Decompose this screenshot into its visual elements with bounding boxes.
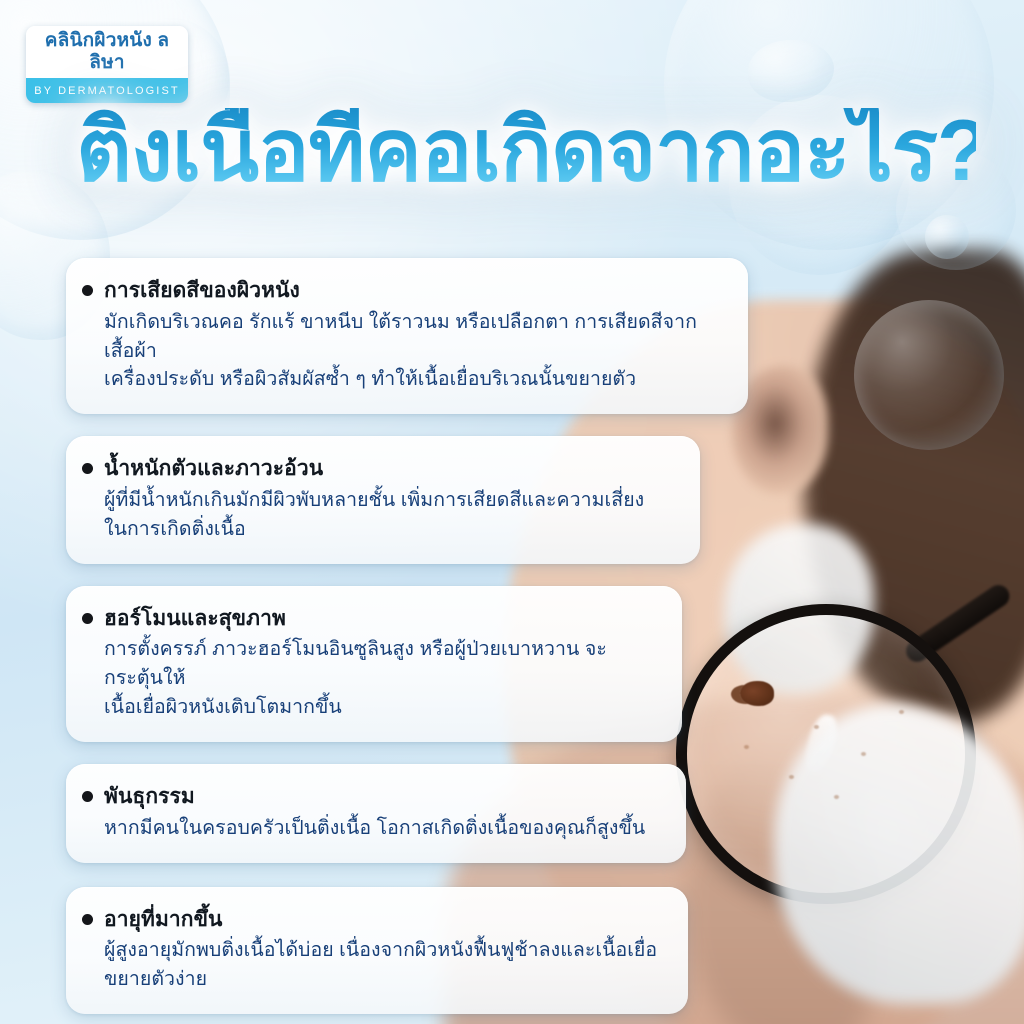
lens-glint	[801, 712, 841, 777]
glove-photo	[774, 704, 1024, 1004]
clinic-logo-name-band: คลินิกผิวหนัง ลลิษา	[26, 26, 188, 78]
hair-photo	[804, 250, 1024, 720]
reason-card: น้ำหนักตัวและภาวะอ้วน ผู้ที่มีน้ำหนักเกิ…	[66, 436, 700, 563]
reason-card: อายุที่มากขึ้น ผู้สูงอายุมักพบติ่งเนื้อไ…	[66, 887, 688, 1014]
reason-body: มักเกิดบริเวณคอ รักแร้ ขาหนีบ ใต้ราวนม ห…	[104, 308, 722, 395]
reason-body-line: หากมีคนในครอบครัวเป็นติ่งเนื้อ โอกาสเกิด…	[104, 814, 660, 843]
reason-body-line: ในการเกิดติ่งเนื้อ	[104, 515, 674, 544]
bubble-decoration	[925, 215, 969, 259]
reason-body-line: ขยายตัวง่าย	[104, 965, 662, 994]
bullet-icon	[82, 791, 93, 802]
reason-body-line: การตั้งครรภ์ ภาวะฮอร์โมนอินซูลินสูง หรือ…	[104, 635, 656, 693]
clinic-name: คลินิกผิวหนัง ลลิษา	[34, 30, 180, 75]
reason-body-line: มักเกิดบริเวณคอ รักแร้ ขาหนีบ ใต้ราวนม ห…	[104, 308, 722, 366]
bullet-icon	[82, 914, 93, 925]
reason-body: ผู้สูงอายุมักพบติ่งเนื้อได้บ่อย เนื่องจา…	[104, 936, 662, 994]
reason-body: ผู้ที่มีน้ำหนักเกินมักมีผิวพับหลายชั้น เ…	[104, 486, 674, 544]
bubble-decoration	[854, 300, 1004, 450]
clinic-logo: คลินิกผิวหนัง ลลิษา BY DERMATOLOGIST	[26, 26, 188, 103]
reason-heading: การเสียดสีของผิวหนัง	[104, 277, 722, 305]
reason-body-line: ผู้สูงอายุมักพบติ่งเนื้อได้บ่อย เนื่องจา…	[104, 936, 662, 965]
reason-body-line: เนื้อเยื่อผิวหนังเติบโตมากขึ้น	[104, 693, 656, 722]
page-title: ติ่งเนื้อที่คอเกิดจากอะไร?	[76, 108, 976, 196]
bubble-decoration	[748, 40, 834, 102]
reason-card: พันธุกรรม หากมีคนในครอบครัวเป็นติ่งเนื้อ…	[66, 764, 686, 863]
reason-heading: ฮอร์โมนและสุขภาพ	[104, 605, 656, 633]
reason-heading: น้ำหนักตัวและภาวะอ้วน	[104, 455, 674, 483]
reason-card-list: การเสียดสีของผิวหนัง มักเกิดบริเวณคอ รัก…	[66, 258, 786, 1014]
reason-heading: พันธุกรรม	[104, 783, 660, 811]
reason-body: หากมีคนในครอบครัวเป็นติ่งเนื้อ โอกาสเกิด…	[104, 814, 660, 843]
reason-body-line: เครื่องประดับ หรือผิวสัมผัสซ้ำ ๆ ทำให้เน…	[104, 365, 722, 394]
reason-card: ฮอร์โมนและสุขภาพ การตั้งครรภ์ ภาวะฮอร์โม…	[66, 586, 682, 742]
clinic-logo-tagline-band: BY DERMATOLOGIST	[26, 78, 188, 103]
magnifier-handle-icon	[902, 581, 1014, 666]
reason-heading: อายุที่มากขึ้น	[104, 906, 662, 934]
bullet-icon	[82, 285, 93, 296]
reason-card: การเสียดสีของผิวหนัง มักเกิดบริเวณคอ รัก…	[66, 258, 748, 414]
infographic-poster: คลินิกผิวหนัง ลลิษา BY DERMATOLOGIST ติ่…	[0, 0, 1024, 1024]
clinic-tagline: BY DERMATOLOGIST	[34, 85, 179, 97]
bullet-icon	[82, 463, 93, 474]
bullet-icon	[82, 613, 93, 624]
reason-body-line: ผู้ที่มีน้ำหนักเกินมักมีผิวพับหลายชั้น เ…	[104, 486, 674, 515]
reason-body: การตั้งครรภ์ ภาวะฮอร์โมนอินซูลินสูง หรือ…	[104, 635, 656, 722]
